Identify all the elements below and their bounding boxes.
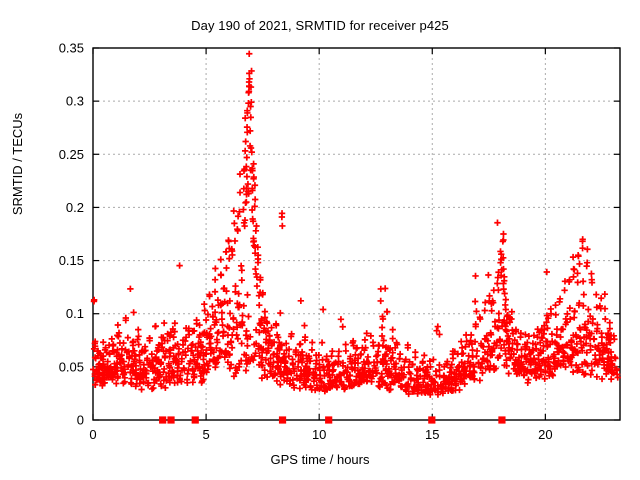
svg-text:0: 0 <box>77 413 84 428</box>
svg-text:0.35: 0.35 <box>59 41 84 56</box>
svg-text:0.2: 0.2 <box>66 200 84 215</box>
svg-text:20: 20 <box>538 427 552 442</box>
svg-text:0.15: 0.15 <box>59 253 84 268</box>
svg-text:0.25: 0.25 <box>59 147 84 162</box>
chart-plot-area: 00.050.10.150.20.250.30.3505101520 <box>0 0 640 480</box>
svg-text:5: 5 <box>202 427 209 442</box>
svg-text:10: 10 <box>312 427 326 442</box>
svg-text:0: 0 <box>89 427 96 442</box>
svg-text:0.05: 0.05 <box>59 359 84 374</box>
chart-root: Day 190 of 2021, SRMTID for receiver p42… <box>0 0 640 480</box>
data-points <box>90 51 621 398</box>
svg-text:0.1: 0.1 <box>66 306 84 321</box>
svg-text:0.3: 0.3 <box>66 94 84 109</box>
svg-text:15: 15 <box>425 427 439 442</box>
